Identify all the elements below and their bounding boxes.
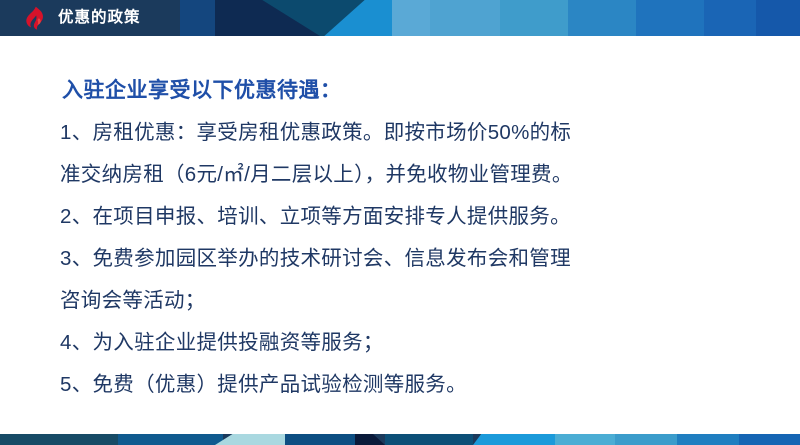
slide-content: 入驻企业享受以下优惠待遇： 1、房租优惠：享受房租优惠政策。即按市场价50%的标… xyxy=(0,36,800,425)
header-title: 优惠的政策 xyxy=(58,0,141,36)
footer-segment-blue-2 xyxy=(285,434,355,445)
benefit-line: 4、为入驻企业提供投融资等服务； xyxy=(60,322,760,364)
header-segment-lightblue-2 xyxy=(430,0,500,36)
footer-segment-navy-1 xyxy=(0,434,118,445)
header-segment-blue-1 xyxy=(180,0,215,36)
footer-segment-blue-3 xyxy=(677,434,739,445)
footer-segment-blue-4 xyxy=(739,434,800,445)
benefit-line: 2、在项目申报、培训、立项等方面安排专人提供服务。 xyxy=(60,196,760,238)
benefit-line: 准交纳房租（6元/㎡/月二层以上），并免收物业管理费。 xyxy=(60,154,760,196)
header-segment-blue-3 xyxy=(636,0,704,36)
header-segment-lightblue-1 xyxy=(392,0,430,36)
benefit-line: 1、房租优惠：享受房租优惠政策。即按市场价50%的标 xyxy=(60,112,760,154)
header-segment-blue-4 xyxy=(704,0,756,36)
benefit-line: 咨询会等活动； xyxy=(60,280,760,322)
header-band: 优惠的政策 xyxy=(0,0,800,36)
header-segment-blue-2 xyxy=(568,0,636,36)
footer-diagonal-dark xyxy=(355,434,385,445)
footer-segment-teal xyxy=(385,434,473,445)
content-heading: 入驻企业享受以下优惠待遇： xyxy=(62,74,342,104)
header-segment-blue-5 xyxy=(756,0,800,36)
benefits-list: 1、房租优惠：享受房租优惠政策。即按市场价50%的标 准交纳房租（6元/㎡/月二… xyxy=(60,112,760,406)
footer-diagonal-cyan xyxy=(473,434,555,445)
footer-segment-lightblue-1 xyxy=(555,434,615,445)
benefit-line: 3、免费参加园区举办的技术研讨会、信息发布会和管理 xyxy=(60,238,760,280)
benefit-line: 5、免费（优惠）提供产品试验检测等服务。 xyxy=(60,364,760,406)
footer-segment-blue-1 xyxy=(118,434,223,445)
header-segment-lightblue-3 xyxy=(500,0,568,36)
footer-band xyxy=(0,434,800,445)
footer-segment-lightblue-2 xyxy=(615,434,677,445)
footer-diagonal-pale xyxy=(215,434,285,445)
slide-root: 优惠的政策 入驻企业享受以下优惠待遇： 1、房租优惠：享受房租优惠政策。即按市场… xyxy=(0,0,800,445)
flame-logo-icon xyxy=(22,6,48,31)
